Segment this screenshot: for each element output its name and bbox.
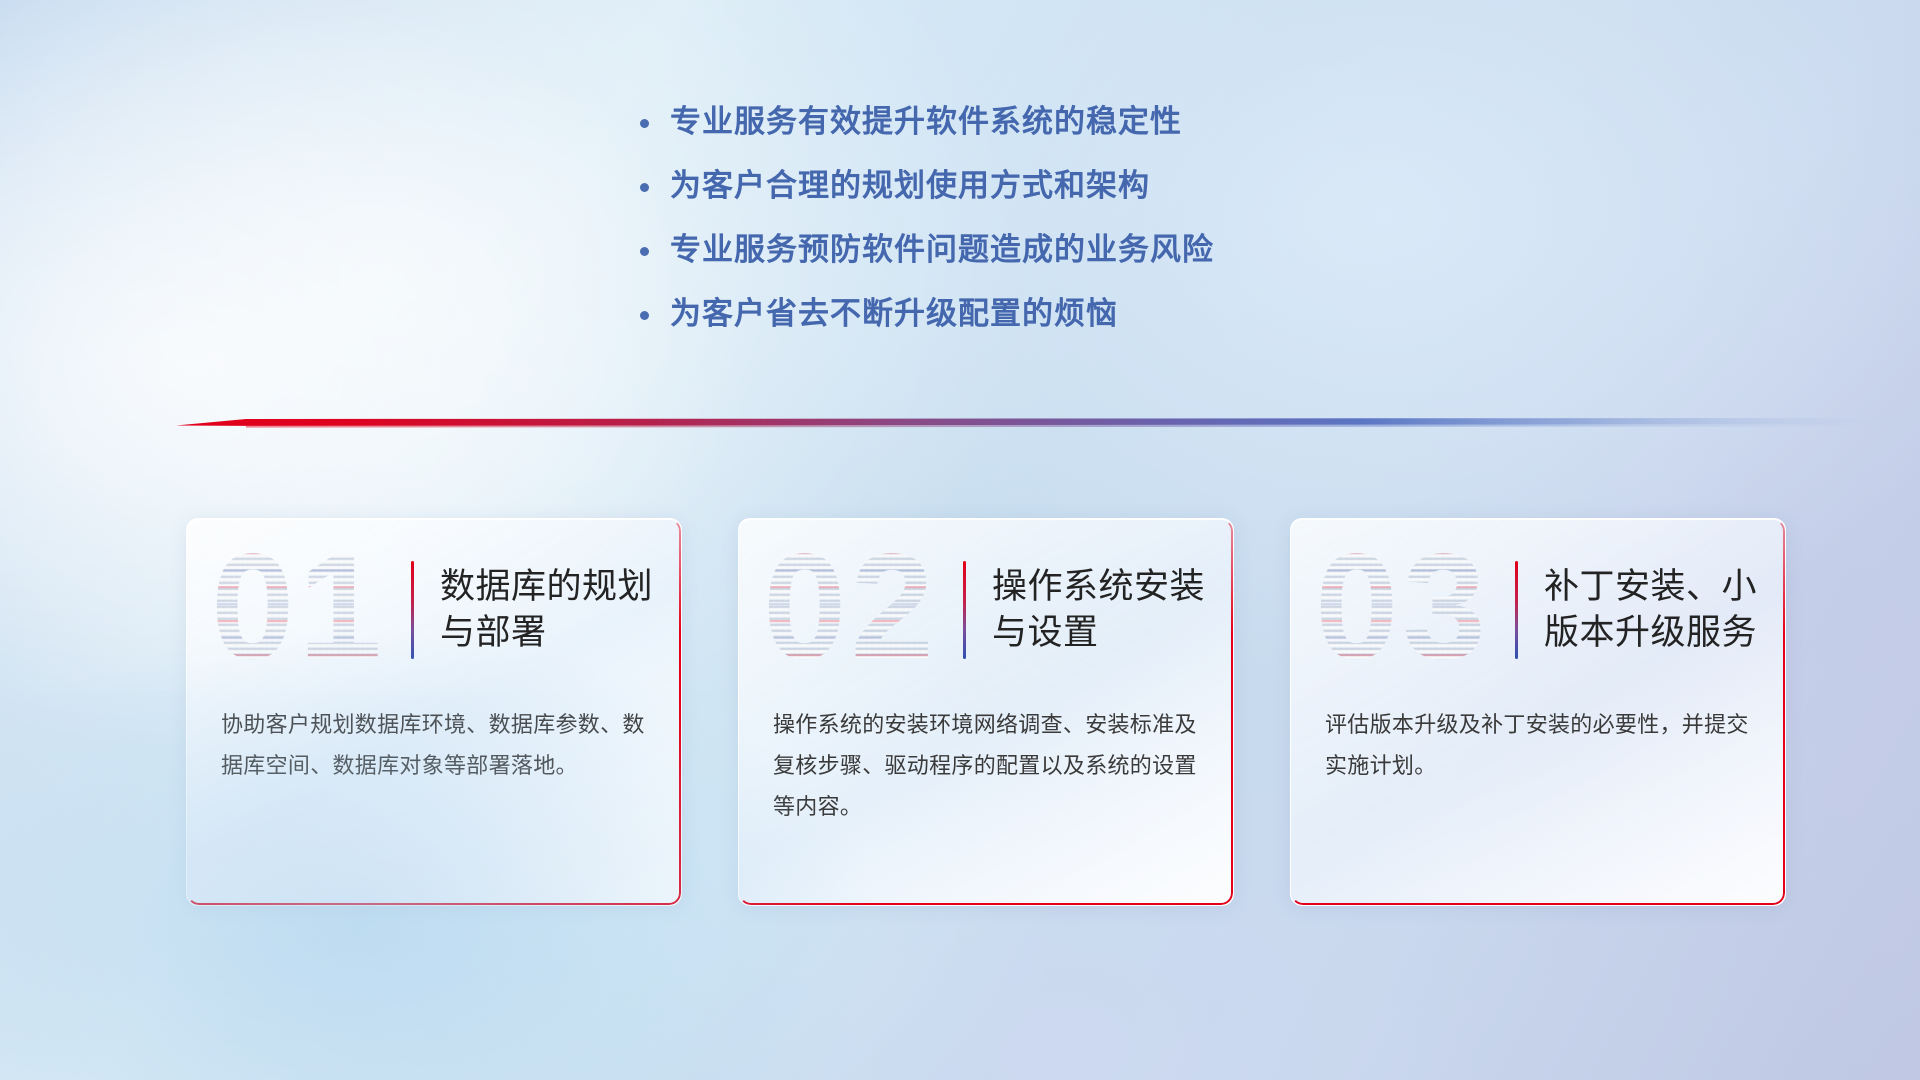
- card-title-line2: 版本升级服务: [1544, 610, 1759, 656]
- bullet-text: 专业服务有效提升软件系统的稳定性: [670, 96, 1182, 141]
- list-item: 专业服务预防软件问题造成的业务风险: [640, 224, 1460, 288]
- accent-bar: [963, 561, 966, 659]
- bullet-dot-icon: [640, 106, 670, 132]
- gradient-divider: [176, 414, 1920, 436]
- ghost-number-01-icon: 01: [211, 546, 407, 674]
- slide-canvas: 专业服务有效提升软件系统的稳定性 为客户合理的规划使用方式和架构 专业服务预防软…: [0, 0, 1920, 1080]
- bullet-text: 专业服务预防软件问题造成的业务风险: [670, 224, 1214, 269]
- accent-bar: [411, 561, 414, 659]
- service-card[interactable]: 02 操作系统安装 与设置 操作系统的安装: [738, 518, 1234, 906]
- card-title-line2: 与设置: [992, 610, 1207, 656]
- bullet-dot-icon: [640, 298, 670, 324]
- card-header: 02 操作系统安装 与设置: [739, 519, 1233, 701]
- benefits-bullet-list: 专业服务有效提升软件系统的稳定性 为客户合理的规划使用方式和架构 专业服务预防软…: [640, 96, 1460, 352]
- service-cards: 01 数据库的规划 与部署 协助客户规划数: [186, 518, 1786, 906]
- bullet-text: 为客户合理的规划使用方式和架构: [670, 160, 1150, 205]
- service-card[interactable]: 03 补丁安装、小 版本升级服务 评估版本: [1290, 518, 1786, 906]
- card-title: 补丁安装、小 版本升级服务: [1544, 564, 1759, 656]
- card-title-line1: 补丁安装、小: [1544, 564, 1759, 610]
- card-body-text: 协助客户规划数据库环境、数据库参数、数据库空间、数据库对象等部署落地。: [187, 701, 681, 787]
- bullet-dot-icon: [640, 234, 670, 260]
- list-item: 为客户合理的规划使用方式和架构: [640, 160, 1460, 224]
- card-title: 操作系统安装 与设置: [992, 564, 1207, 656]
- card-title-line2: 与部署: [440, 610, 655, 656]
- card-body-text: 操作系统的安装环境网络调查、安装标准及复核步骤、驱动程序的配置以及系统的设置等内…: [739, 701, 1233, 828]
- accent-bar: [1515, 561, 1518, 659]
- ghost-number-02-icon: 02: [763, 546, 959, 674]
- bullet-dot-icon: [640, 170, 670, 196]
- list-item: 专业服务有效提升软件系统的稳定性: [640, 96, 1460, 160]
- ghost-number-03-icon: 03: [1315, 546, 1511, 674]
- bullet-text: 为客户省去不断升级配置的烦恼: [670, 288, 1118, 333]
- card-title-line1: 数据库的规划: [440, 564, 655, 610]
- service-card[interactable]: 01 数据库的规划 与部署 协助客户规划数: [186, 518, 682, 906]
- card-body-text: 评估版本升级及补丁安装的必要性，并提交实施计划。: [1291, 701, 1785, 787]
- card-title: 数据库的规划 与部署: [440, 564, 655, 656]
- card-header: 03 补丁安装、小 版本升级服务: [1291, 519, 1785, 701]
- card-header: 01 数据库的规划 与部署: [187, 519, 681, 701]
- card-title-line1: 操作系统安装: [992, 564, 1207, 610]
- list-item: 为客户省去不断升级配置的烦恼: [640, 288, 1460, 352]
